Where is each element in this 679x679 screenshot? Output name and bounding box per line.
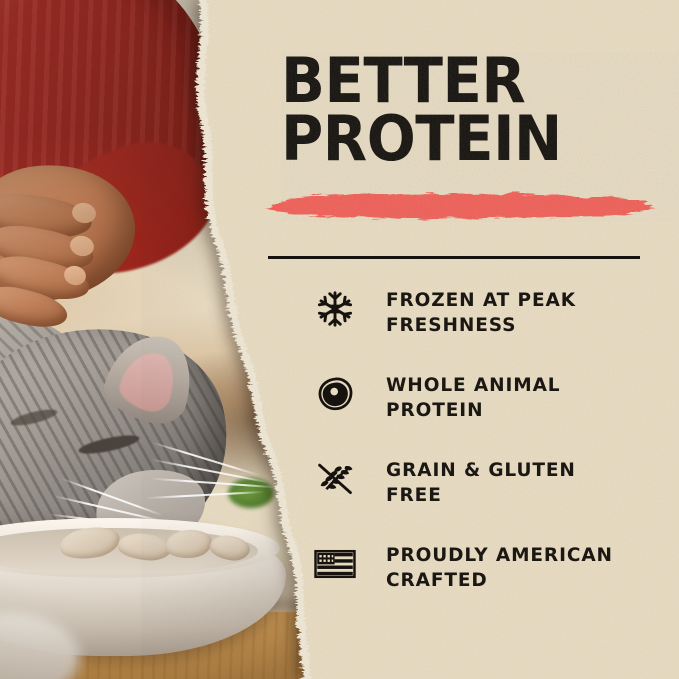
red-brush-stroke xyxy=(262,186,658,224)
feature-label: GRAIN & GLUTEN FREE xyxy=(386,453,576,508)
feature-label-line-1: PROUDLY AMERICAN xyxy=(386,545,613,566)
feature-label-line-2: PROTEIN xyxy=(386,400,483,421)
product-feature-graphic: BETTER PROTEIN xyxy=(0,0,679,679)
feature-item-grain-free: GRAIN & GLUTEN FREE xyxy=(312,453,662,538)
page-title: BETTER PROTEIN xyxy=(281,52,653,169)
feature-item-frozen: FROZEN AT PEAK FRESHNESS xyxy=(312,283,662,368)
snowflake-icon xyxy=(312,286,358,332)
feature-label-line-1: GRAIN & GLUTEN xyxy=(386,460,576,481)
grain-free-icon xyxy=(312,456,358,502)
feature-label-line-2: FREE xyxy=(386,485,442,506)
feature-item-american: PROUDLY AMERICAN CRAFTED xyxy=(312,538,662,623)
steak-icon xyxy=(312,371,358,417)
feature-label: WHOLE ANIMAL PROTEIN xyxy=(386,368,560,423)
feature-label-line-2: CRAFTED xyxy=(386,570,488,591)
feature-list: FROZEN AT PEAK FRESHNESS WHOLE ANIMAL PR… xyxy=(312,283,662,623)
feature-item-protein: WHOLE ANIMAL PROTEIN xyxy=(312,368,662,453)
feature-label: PROUDLY AMERICAN CRAFTED xyxy=(386,538,613,593)
american-flag-icon xyxy=(312,541,358,587)
section-divider xyxy=(268,256,640,259)
feature-label: FROZEN AT PEAK FRESHNESS xyxy=(386,283,576,338)
feature-label-line-1: FROZEN AT PEAK xyxy=(386,290,576,311)
feature-label-line-2: FRESHNESS xyxy=(386,315,516,336)
feature-label-line-1: WHOLE ANIMAL xyxy=(386,375,560,396)
content-column: BETTER PROTEIN xyxy=(0,0,679,679)
headline-line-2: PROTEIN xyxy=(281,110,653,168)
